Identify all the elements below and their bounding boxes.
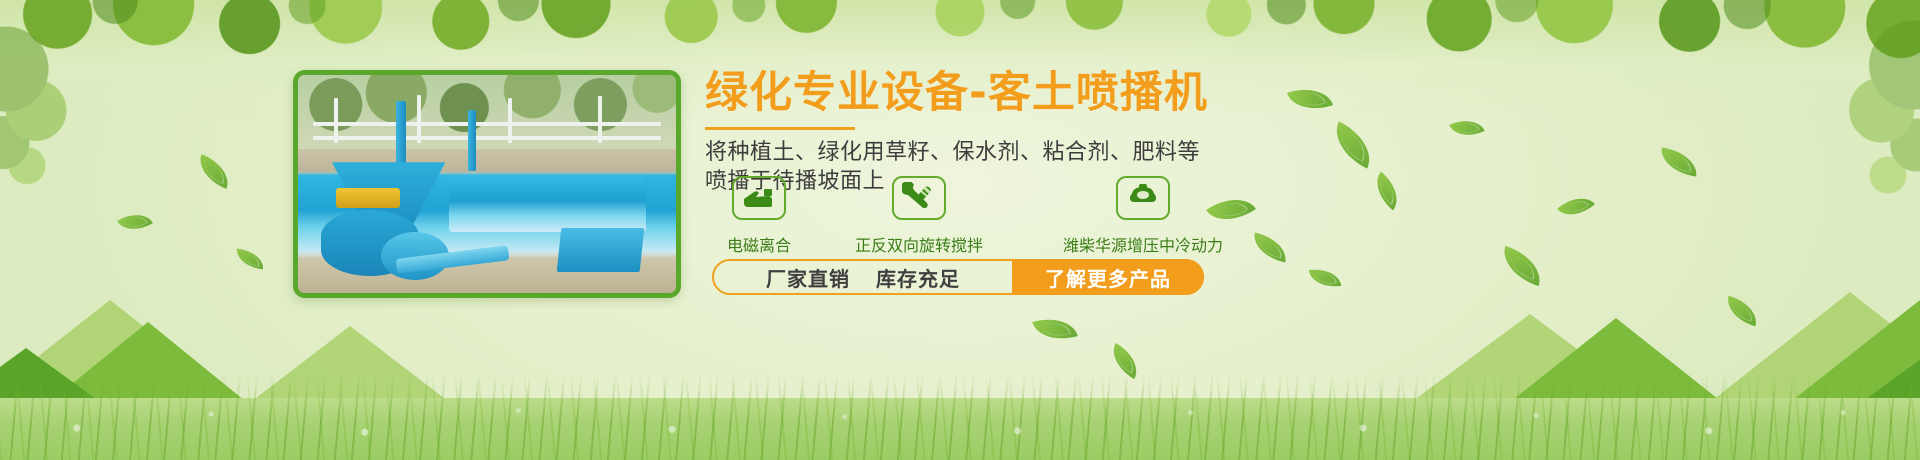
foliage-right-decoration xyxy=(1600,0,1920,250)
product-photo-image xyxy=(298,75,676,293)
foliage-left-decoration xyxy=(0,0,300,230)
learn-more-button[interactable]: 了解更多产品 xyxy=(1012,259,1204,295)
title-divider xyxy=(705,127,855,130)
leaf-icon xyxy=(235,249,265,270)
promo-banner: 绿化专业设备-客土喷播机 将种植土、绿化用草籽、保水剂、粘合剂、肥料等 喷播于待… xyxy=(0,0,1920,460)
cta-tag-2: 库存充足 xyxy=(876,263,960,292)
feature-item-mixing[interactable]: 正反双向旋转搅拌 xyxy=(855,176,983,256)
tools-icon xyxy=(902,182,936,214)
engine-icon xyxy=(1126,183,1160,213)
page-title: 绿化专业设备-客土喷播机 xyxy=(705,72,1445,115)
feature-icon-frame xyxy=(892,176,946,220)
photo-machine-tank xyxy=(449,175,646,232)
cta-bar: 厂家直销 库存充足 了解更多产品 xyxy=(712,259,1204,295)
leaf-icon xyxy=(1557,188,1595,225)
feature-item-engine[interactable]: 潍柴华源增压中冷动力 xyxy=(1063,176,1223,256)
photo-blue-post-secondary xyxy=(468,110,476,171)
feature-list: 电磁离合 正反双向旋转搅拌 xyxy=(705,176,1445,256)
photo-machine-control-box xyxy=(557,228,645,272)
photo-yellow-component xyxy=(336,188,400,208)
subtitle-line-1: 将种植土、绿化用草籽、保水剂、粘合剂、肥料等 xyxy=(705,138,1445,167)
feature-icon-frame xyxy=(732,176,786,220)
clutch-icon xyxy=(742,183,776,213)
cta-tag-1: 厂家直销 xyxy=(766,263,850,292)
feature-item-clutch[interactable]: 电磁离合 xyxy=(727,176,791,256)
feature-label: 潍柴华源增压中冷动力 xyxy=(1063,232,1223,256)
photo-railing xyxy=(313,92,661,149)
cta-tagline: 厂家直销 库存充足 xyxy=(714,263,1012,292)
feature-label: 电磁离合 xyxy=(727,232,791,256)
feature-label: 正反双向旋转搅拌 xyxy=(855,232,983,256)
flower-dots-decoration xyxy=(0,386,1920,456)
product-photo[interactable] xyxy=(293,70,681,298)
feature-icon-frame xyxy=(1116,176,1170,220)
